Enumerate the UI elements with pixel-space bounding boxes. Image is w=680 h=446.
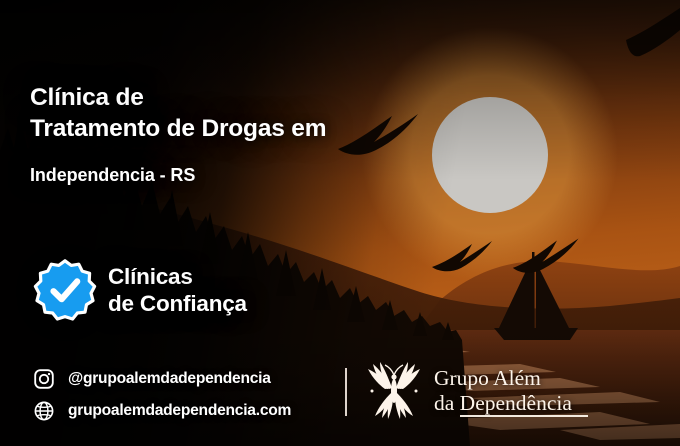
trust-badge-line-1: Clínicas xyxy=(108,263,247,290)
brand-logo-lockup[interactable]: Grupo Além da Dependência xyxy=(363,360,572,422)
promo-banner: Clínica de Tratamento de Drogas em Indep… xyxy=(0,0,680,446)
headline-line-1: Clínica de xyxy=(30,84,144,111)
trust-badge-label: Clínicas de Confiança xyxy=(108,263,247,318)
brand-name-line-2: da Dependência xyxy=(434,391,572,416)
instagram-icon xyxy=(33,368,55,390)
brand-name-line-1: Grupo Além xyxy=(434,366,572,391)
instagram-contact-row[interactable]: @grupoalemdadependencia xyxy=(33,365,291,392)
contact-block: @grupoalemdadependencia grupoalemdadepen… xyxy=(33,365,291,424)
brand-name: Grupo Além da Dependência xyxy=(434,366,572,417)
verified-check-badge-icon xyxy=(33,258,97,322)
instagram-handle: @grupoalemdadependencia xyxy=(68,370,271,388)
trust-badge-line-2: de Confiança xyxy=(108,290,247,317)
butterfly-logo-icon xyxy=(363,360,425,422)
location-subtitle: Independencia - RS xyxy=(30,165,195,186)
brand-underline-flourish xyxy=(460,415,588,417)
website-url: grupoalemdadependencia.com xyxy=(68,402,291,420)
headline-line-2: Tratamento de Drogas em xyxy=(30,113,326,144)
globe-icon xyxy=(33,400,55,422)
banner-content: Clínica de Tratamento de Drogas em Indep… xyxy=(0,0,680,446)
trust-badge: Clínicas de Confiança xyxy=(33,258,247,322)
website-contact-row[interactable]: grupoalemdadependencia.com xyxy=(33,397,291,424)
footer-divider xyxy=(345,368,347,416)
page-title: Clínica de Tratamento de Drogas em xyxy=(30,82,326,145)
brand-name-line-2-wrap: da Dependência xyxy=(434,391,572,416)
